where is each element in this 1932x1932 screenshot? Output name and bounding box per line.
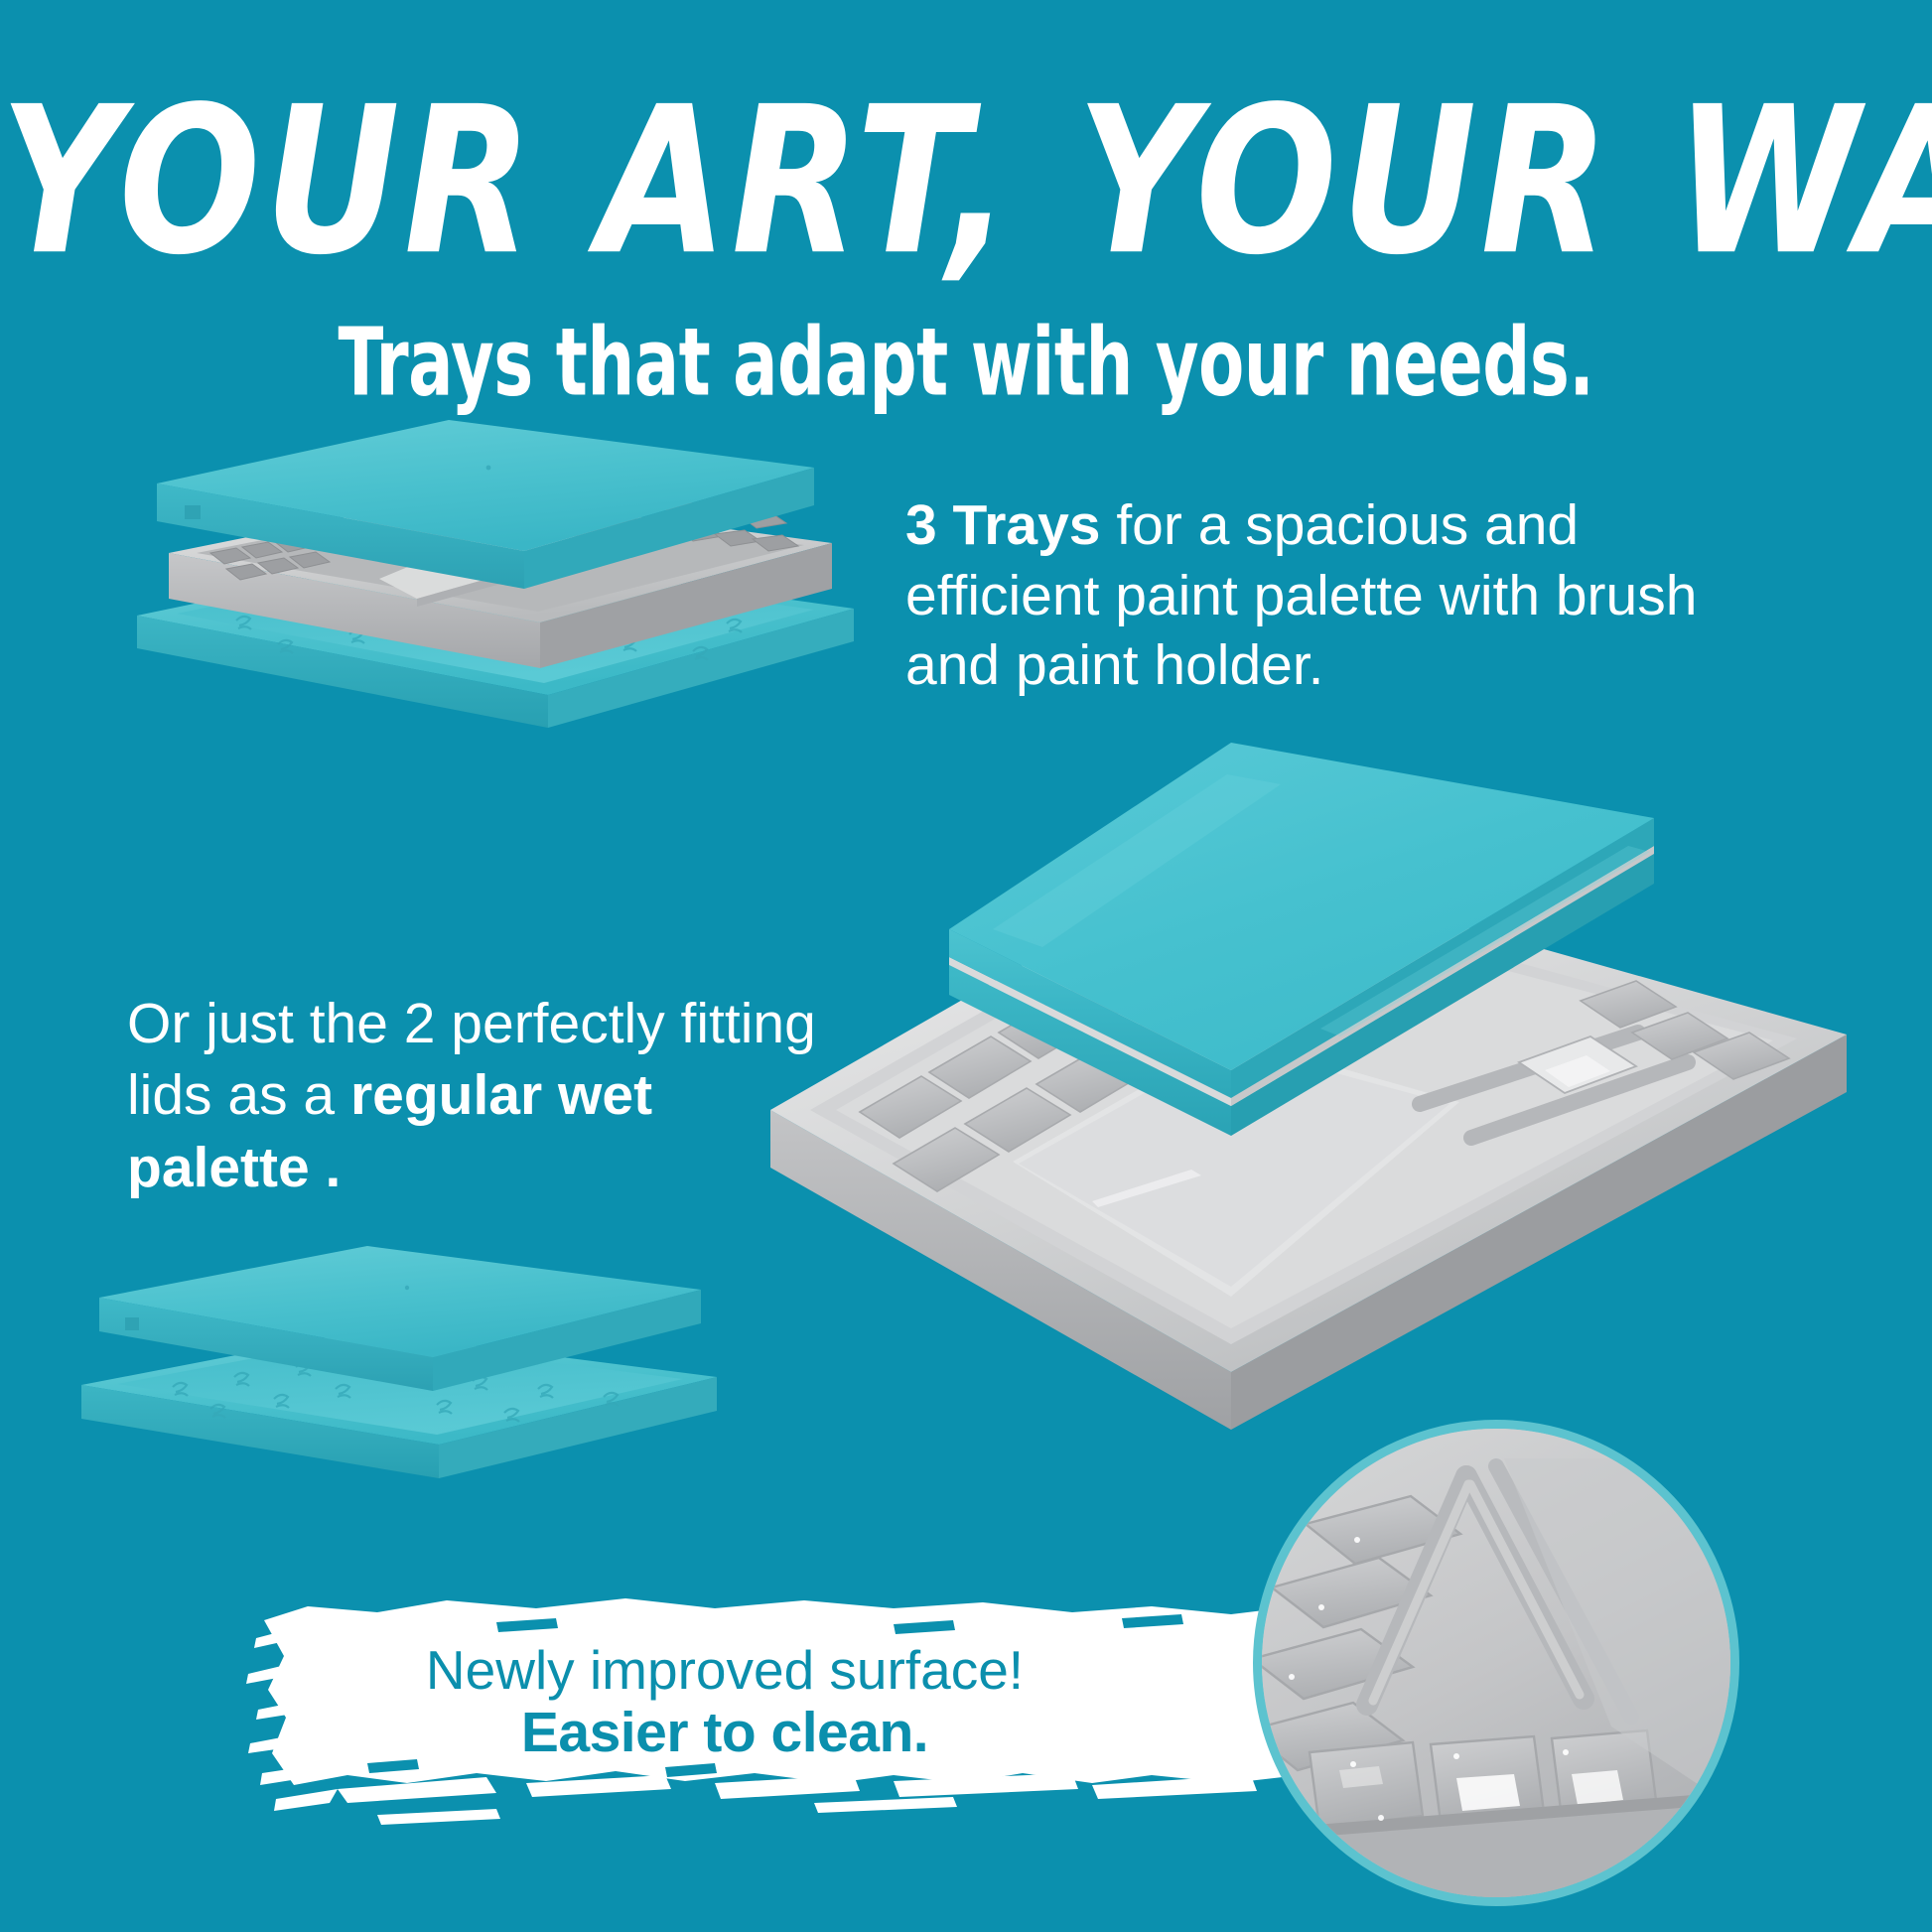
- feature-three-trays-lead: 3 Trays: [905, 493, 1101, 557]
- closeup-tray-compartments: [1253, 1420, 1739, 1906]
- closeup-illustration: [1262, 1429, 1730, 1897]
- page-title: YOUR ART, YOUR WAY: [0, 79, 1932, 283]
- poster-canvas: YOUR ART, YOUR WAY Trays that adapt with…: [0, 0, 1932, 1932]
- banner-line-2: Easier to clean.: [199, 1702, 1251, 1765]
- hero-open-palette-with-lid-box: [764, 735, 1926, 1469]
- brush-banner: Newly improved surface! Easier to clean.: [199, 1579, 1311, 1876]
- page-subtitle: Trays that adapt with your needs.: [39, 316, 1893, 410]
- banner-text: Newly improved surface! Easier to clean.: [199, 1640, 1251, 1764]
- exploded-three-tray-stack: [119, 402, 874, 779]
- exploded-two-lid-stack: [69, 1236, 725, 1494]
- feature-text-three-trays: 3 Trays for a spacious and efficient pai…: [905, 490, 1700, 701]
- banner-line-1: Newly improved surface!: [199, 1640, 1251, 1702]
- feature-text-two-lids: Or just the 2 perfectly fitting lids as …: [127, 988, 822, 1203]
